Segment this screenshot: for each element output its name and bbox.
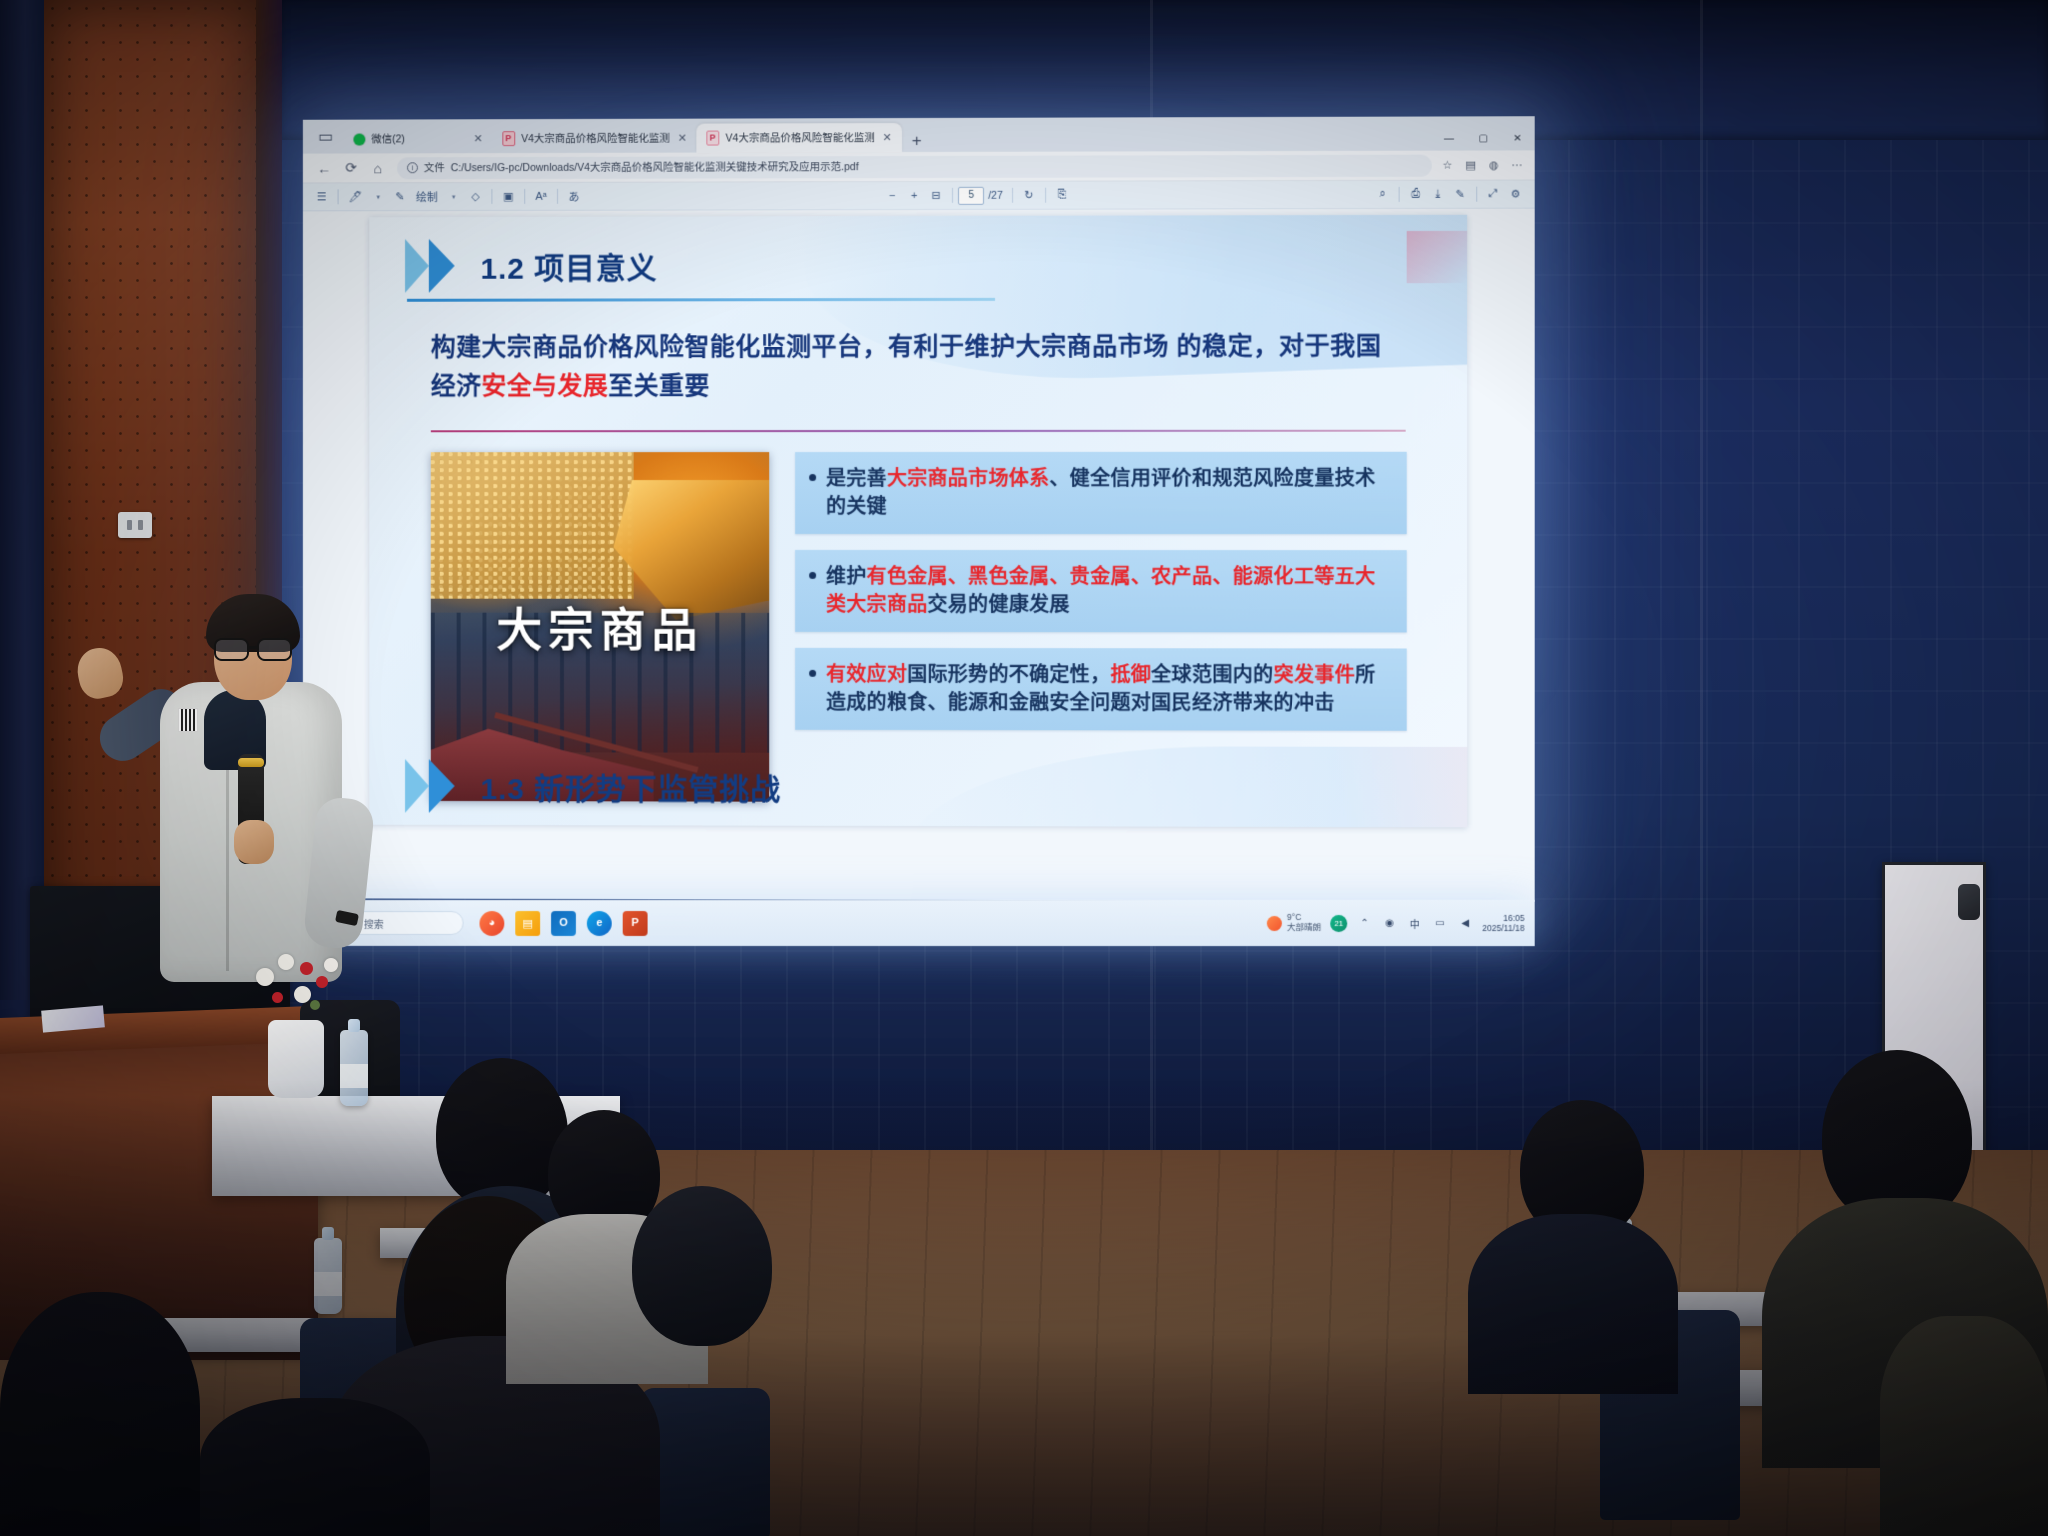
browser-tab-wechat[interactable]: 微信(2) ✕ — [344, 124, 493, 153]
weather-icon — [1267, 915, 1282, 930]
chevron-icon — [403, 235, 480, 297]
ellipsis-icon[interactable]: ⋯ — [1507, 155, 1526, 174]
zoom-out-button[interactable]: − — [881, 185, 903, 207]
photo-caption: 大宗商品 — [431, 594, 769, 660]
presenter-badge — [178, 708, 198, 732]
bullet-highlight-3: 突发事件 — [1274, 664, 1356, 686]
browser-tab-strip: ▭ 微信(2) ✕ V4大宗商品价格风险智能化监测 ✕ V4大宗商品价格风险智能… — [303, 116, 1535, 153]
home-icon[interactable]: ⌂ — [364, 156, 391, 180]
save-icon[interactable]: ⤓ — [1427, 183, 1449, 205]
bullet-text: 维护有色金属、黑色金属、贵金属、农产品、能源化工等五大类大宗商品交易的健康发展 — [826, 563, 1390, 619]
page-number-input[interactable]: 5 — [958, 186, 984, 204]
bullet-highlight-2: 抵御 — [1110, 664, 1151, 686]
pdf-icon — [707, 131, 720, 146]
tab-close-icon[interactable]: ✕ — [472, 132, 485, 145]
windows-taskbar: ⊞ ⌕ 搜索 ◕ ▤ O e P 9°C 大部晴朗 21 ⌃ ◉ 中 ▭ — [303, 900, 1535, 946]
bullet-post: 交易的健康发展 — [927, 594, 1069, 616]
tab-close-icon[interactable]: ✕ — [881, 131, 894, 144]
toolbar-divider — [952, 188, 953, 203]
powerpoint-icon[interactable]: P — [623, 911, 648, 936]
read-aloud-icon[interactable]: Aᵃ — [530, 185, 552, 207]
chevron-down-icon[interactable]: ▾ — [443, 186, 465, 208]
clock-time: 16:05 — [1482, 913, 1524, 923]
tab-title: V4大宗商品价格风险智能化监测 — [521, 131, 670, 146]
security-icon[interactable]: ◉ — [1382, 915, 1398, 931]
system-tray: 9°C 大部晴朗 21 ⌃ ◉ 中 ▭ ◀ 16:05 2025/11/18 — [1267, 913, 1525, 933]
toolbar-divider — [1045, 188, 1046, 203]
ime-icon[interactable]: 中 — [1407, 915, 1423, 931]
bullet-highlight: 有效应对 — [826, 664, 907, 686]
tab-overview-icon[interactable]: ▭ — [313, 124, 339, 150]
back-icon[interactable]: ← — [311, 156, 338, 180]
widgets-icon[interactable]: ◕ — [479, 911, 504, 936]
bullet-item: 维护有色金属、黑色金属、贵金属、农产品、能源化工等五大类大宗商品交易的健康发展 — [795, 550, 1407, 632]
draw-icon[interactable]: ✎ — [389, 186, 411, 208]
toolbar-divider — [1476, 187, 1477, 202]
bullet-list: 是完善大宗商品市场体系、健全信用评价和规范风险度量技术的关键 维护有色金属、黑色… — [795, 452, 1407, 731]
wechat-icon — [353, 133, 365, 145]
wall-seam — [1700, 0, 1703, 1160]
weather-text: 9°C 大部晴朗 — [1287, 913, 1321, 933]
bullet-highlight: 有色金属、黑色金属、贵金属、农产品、能源化工等五大类大宗商品 — [826, 566, 1376, 616]
flipchart-clip — [1958, 884, 1980, 920]
wall-left-trim — [0, 0, 46, 1040]
taskbar-app-icons: ◕ ▤ O e P — [479, 911, 647, 936]
highlight-pen-icon[interactable]: 🖊 — [344, 186, 368, 208]
bullet-pre: 是完善 — [826, 468, 887, 490]
section-title: 1.2 项目意义 — [480, 244, 657, 288]
presenter-mic-hand — [234, 820, 274, 864]
profile-icon[interactable]: ◍ — [1484, 155, 1503, 174]
section-heading-1-2: 1.2 项目意义 — [403, 235, 658, 297]
toolbar-spacer — [585, 196, 881, 197]
star-icon[interactable]: ☆ — [1438, 156, 1457, 175]
minimize-button[interactable]: — — [1432, 126, 1466, 150]
outline-icon[interactable]: ☰ — [311, 186, 333, 208]
glasses-icon — [212, 638, 294, 658]
bullet-highlight: 大宗商品市场体系 — [887, 468, 1050, 490]
wall-socket — [118, 512, 152, 538]
clock[interactable]: 16:05 2025/11/18 — [1482, 913, 1524, 933]
annotate-icon[interactable]: ✎ — [1449, 183, 1471, 205]
weather-description: 大部晴朗 — [1287, 923, 1321, 933]
url-scheme-label: 文件 — [424, 160, 445, 175]
section-heading-1-3: 1.3 新形势下监管挑战 — [403, 755, 781, 818]
zoom-in-button[interactable]: + — [903, 184, 925, 206]
pdf-viewport[interactable]: 1.2 项目意义 构建大宗商品价格风险智能化监测平台，有利于维护大宗商品市场 的… — [303, 209, 1535, 902]
audience-member — [0, 1292, 200, 1536]
address-bar: ← ⟳ ⌂ i 文件 C:/Users/IG-pc/Downloads/V4大宗… — [303, 150, 1535, 183]
fit-page-icon[interactable]: ⊟ — [925, 184, 947, 206]
close-button[interactable]: ✕ — [1500, 126, 1534, 150]
page-total-label: /27 — [984, 189, 1007, 201]
network-icon[interactable]: ▭ — [1432, 915, 1448, 931]
page-layout-icon[interactable]: ⎘ — [1051, 184, 1073, 206]
projection-screen: ▭ 微信(2) ✕ V4大宗商品价格风险智能化监测 ✕ V4大宗商品价格风险智能… — [303, 116, 1535, 902]
eraser-icon[interactable]: ◇ — [465, 186, 487, 208]
paragraph-divider — [431, 430, 1406, 433]
omnibox[interactable]: i 文件 C:/Users/IG-pc/Downloads/V4大宗商品价格风险… — [397, 154, 1432, 179]
pdf-icon — [502, 131, 515, 146]
water-bottle — [340, 1030, 368, 1106]
audience-member — [1880, 1316, 2048, 1536]
microphone-band — [238, 758, 264, 767]
tab-title: V4大宗商品价格风险智能化监测 — [726, 130, 875, 145]
settings-icon[interactable]: ⚙ — [1504, 183, 1526, 205]
clock-date: 2025/11/18 — [1482, 923, 1524, 933]
edge-icon[interactable]: e — [587, 911, 612, 936]
slide-decoration-bottom — [905, 746, 1467, 827]
slide-corner-accent — [1407, 231, 1467, 283]
browser-tab-pdf-2[interactable]: V4大宗商品价格风险智能化监测 ✕ — [697, 123, 902, 153]
toolbar-divider — [1012, 188, 1013, 203]
bullet-dot-icon — [809, 572, 816, 579]
toolbar-spacer — [1073, 194, 1372, 195]
maximize-button[interactable]: ▢ — [1466, 126, 1500, 150]
audience-member — [632, 1186, 772, 1346]
collections-icon[interactable]: ▤ — [1461, 156, 1480, 175]
window-controls: — ▢ ✕ — [1432, 126, 1535, 150]
info-icon[interactable]: i — [407, 162, 418, 173]
volume-icon[interactable]: ◀ — [1457, 915, 1473, 931]
chevron-down-icon[interactable]: ▾ — [367, 186, 389, 208]
chevron-icon — [403, 755, 480, 817]
file-explorer-icon[interactable]: ▤ — [515, 911, 540, 936]
flower-arrangement — [248, 950, 352, 1028]
slide-paragraph: 构建大宗商品价格风险智能化监测平台，有利于维护大宗商品市场 的稳定，对于我国经济… — [431, 327, 1406, 406]
pdf-toolbar: ☰ 🖊 ▾ ✎ 绘制 ▾ ◇ ▣ Aᵃ あ − + ⊟ 5 / — [303, 181, 1535, 212]
address-bar-icons: ☆ ▤ ◍ ⋯ — [1438, 155, 1527, 174]
browser-window: ▭ 微信(2) ✕ V4大宗商品价格风险智能化监测 ✕ V4大宗商品价格风险智能… — [303, 116, 1535, 902]
slide-page-5: 1.2 项目意义 构建大宗商品价格风险智能化监测平台，有利于维护大宗商品市场 的… — [369, 215, 1467, 827]
draw-label[interactable]: 绘制 — [411, 186, 443, 208]
bullet-pre: 维护 — [826, 566, 867, 588]
rotate-icon[interactable]: ↻ — [1018, 184, 1040, 206]
bullet-text: 是完善大宗商品市场体系、健全信用评价和规范风险度量技术的关键 — [826, 465, 1390, 521]
new-tab-button[interactable]: + — [902, 132, 932, 152]
translate-icon[interactable]: あ — [563, 185, 585, 207]
bullet-dot-icon — [809, 474, 816, 481]
bullet-mid-2: 全球范围内的 — [1151, 664, 1273, 686]
weather-widget[interactable]: 9°C 大部晴朗 — [1267, 913, 1321, 933]
search-placeholder: 搜索 — [364, 916, 384, 931]
chevron-up-icon[interactable]: ⌃ — [1356, 915, 1372, 931]
bullet-text: 有效应对国际形势的不确定性，抵御全球范围内的突发事件所造成的粮食、能源和金融安全… — [826, 661, 1390, 718]
conference-room-photo: ▭ 微信(2) ✕ V4大宗商品价格风险智能化监测 ✕ V4大宗商品价格风险智能… — [0, 0, 2048, 1536]
fullscreen-icon[interactable]: ⤢ — [1482, 183, 1504, 205]
water-bottle — [314, 1238, 342, 1314]
bullet-item: 是完善大宗商品市场体系、健全信用评价和规范风险度量技术的关键 — [795, 452, 1407, 534]
browser-tab-pdf-1[interactable]: V4大宗商品价格风险智能化监测 ✕ — [492, 124, 696, 153]
flower-vase — [268, 1020, 324, 1098]
paragraph-line-1: 构建大宗商品价格风险智能化监测平台，有利于维护大宗商品市场 — [431, 333, 1169, 362]
grain-texture — [431, 452, 634, 599]
toolbar-divider — [491, 189, 492, 204]
textbox-icon[interactable]: ▣ — [497, 185, 519, 207]
commodities-photo: 大宗商品 — [431, 452, 769, 802]
search-icon[interactable]: ⌕ — [1371, 183, 1393, 205]
url-text: C:/Users/IG-pc/Downloads/V4大宗商品价格风险智能化监测… — [451, 159, 859, 175]
toolbar-divider — [524, 189, 525, 204]
print-icon[interactable]: ⎙ — [1405, 183, 1427, 205]
audience-member — [200, 1398, 430, 1536]
bullet-dot-icon — [809, 670, 816, 677]
tab-close-icon[interactable]: ✕ — [676, 132, 689, 145]
toolbar-divider — [338, 189, 339, 204]
bullet-item: 有效应对国际形势的不确定性，抵御全球范围内的突发事件所造成的粮食、能源和金融安全… — [795, 648, 1407, 731]
refresh-icon[interactable]: ⟳ — [338, 156, 365, 180]
audience-member-body — [1468, 1214, 1678, 1394]
paragraph-highlight: 安全与发展 — [481, 372, 608, 400]
outlook-icon[interactable]: O — [551, 911, 576, 936]
next-section-title: 1.3 新形势下监管挑战 — [480, 764, 781, 809]
notification-badge[interactable]: 21 — [1330, 914, 1347, 931]
paragraph-line-2b: 至关重要 — [608, 372, 710, 400]
toolbar-divider — [557, 189, 558, 204]
tab-title: 微信(2) — [371, 131, 465, 146]
toolbar-divider — [1399, 187, 1400, 202]
bullet-mid: 国际形势的不确定性， — [907, 664, 1110, 686]
